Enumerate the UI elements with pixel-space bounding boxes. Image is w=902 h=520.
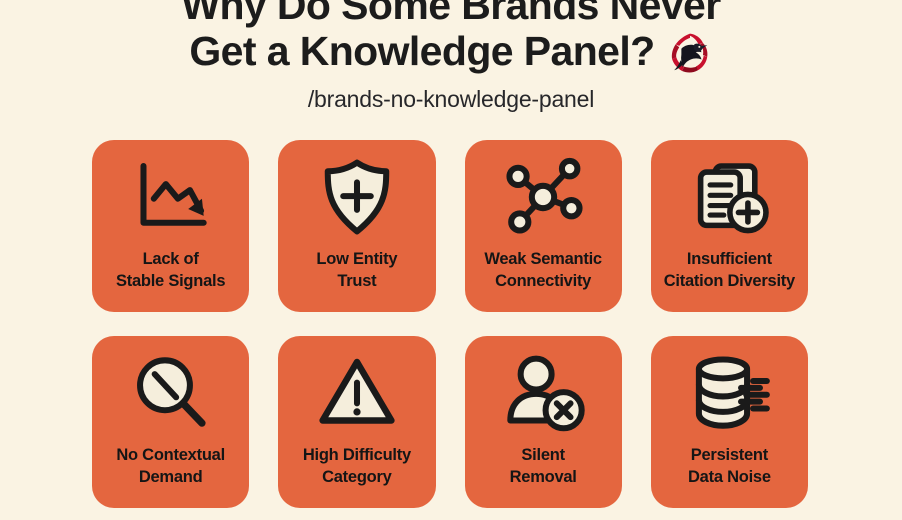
card-high-difficulty-category[interactable]: High Difficulty Category (278, 336, 435, 508)
title-line-1: Why Do Some Brands Never (0, 0, 902, 28)
card-low-entity-trust[interactable]: Low Entity Trust (278, 140, 435, 312)
infographic-page: Why Do Some Brands Never Get a Knowledge… (0, 0, 902, 520)
card-silent-removal[interactable]: Silent Removal (465, 336, 622, 508)
title-line-2: Get a Knowledge Panel? (189, 28, 654, 74)
title-line-2-row: Get a Knowledge Panel? (0, 28, 902, 74)
page-subtitle: /brands-no-knowledge-panel (0, 86, 902, 112)
database-noise-icon (686, 350, 772, 436)
warning-triangle-icon (314, 350, 400, 436)
card-lack-of-stable-signals[interactable]: Lack of Stable Signals (92, 140, 249, 312)
raven-bird-logo-icon (667, 30, 713, 76)
card-label: High Difficulty Category (303, 444, 411, 488)
card-no-contextual-demand[interactable]: No Contextual Demand (92, 336, 249, 508)
reasons-grid: Lack of Stable Signals Low Entity Trust (92, 140, 808, 508)
card-insufficient-citation-diversity[interactable]: Insufficient Citation Diversity (651, 140, 808, 312)
declining-chart-icon (128, 154, 214, 240)
card-label: Lack of Stable Signals (116, 248, 225, 292)
documents-plus-icon (686, 154, 772, 240)
user-remove-icon (500, 350, 586, 436)
network-nodes-icon (500, 154, 586, 240)
card-label: No Contextual Demand (116, 444, 225, 488)
card-persistent-data-noise[interactable]: Persistent Data Noise (651, 336, 808, 508)
card-label: Silent Removal (510, 444, 577, 488)
card-label: Persistent Data Noise (688, 444, 771, 488)
card-label: Low Entity Trust (316, 248, 397, 292)
page-title: Why Do Some Brands Never Get a Knowledge… (0, 0, 902, 74)
magnifier-slash-icon (128, 350, 214, 436)
card-label: Weak Semantic Connectivity (484, 248, 602, 292)
card-label: Insufficient Citation Diversity (664, 248, 795, 292)
card-weak-semantic-connectivity[interactable]: Weak Semantic Connectivity (465, 140, 622, 312)
header: Why Do Some Brands Never Get a Knowledge… (0, 0, 902, 112)
shield-plus-icon (314, 154, 400, 240)
